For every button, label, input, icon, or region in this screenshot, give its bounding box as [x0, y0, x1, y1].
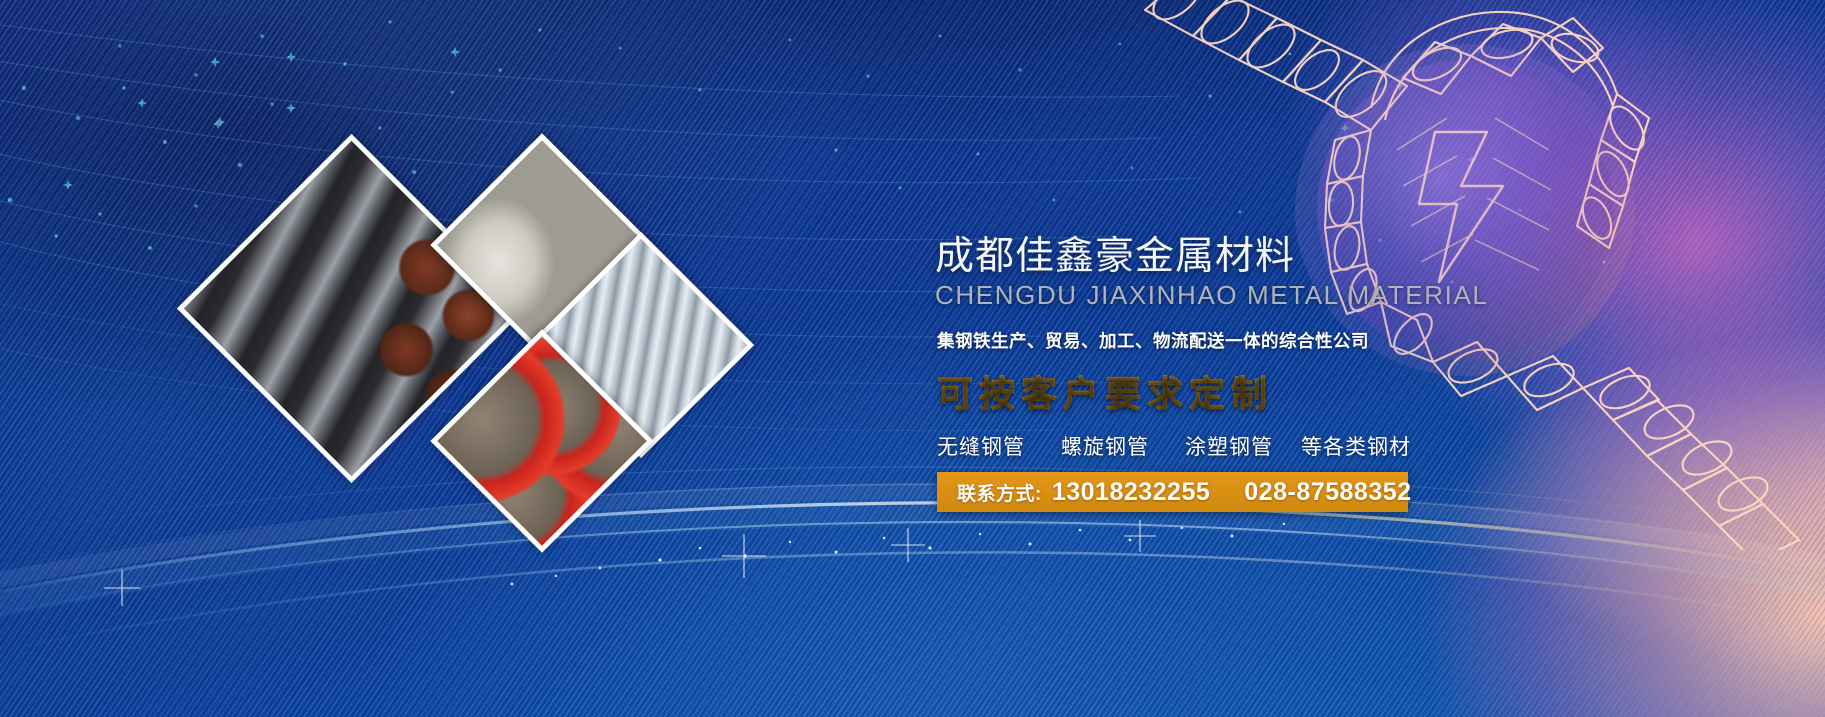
company-name-cn: 成都佳鑫豪金属材料: [935, 236, 1455, 277]
product-item-0: 无缝钢管: [937, 431, 1025, 461]
product-photo-collage: [0, 0, 820, 600]
product-item-3: 等各类钢材: [1301, 431, 1411, 461]
contact-mobile-number[interactable]: 13018232255: [1052, 478, 1210, 507]
company-text-block: 成都佳鑫豪金属材料 CHENGDU JIAXINHAO METAL MATERI…: [935, 236, 1455, 461]
contact-label: 联系方式:: [957, 479, 1042, 506]
company-description: 集钢铁生产、贸易、加工、物流配送一体的综合性公司: [937, 328, 1455, 353]
product-item-1: 螺旋钢管: [1061, 431, 1149, 461]
contact-landline-number[interactable]: 028-87588352: [1244, 478, 1411, 507]
product-list: 无缝钢管 螺旋钢管 涂塑钢管 等各类钢材: [937, 431, 1455, 461]
promo-banner: 成都佳鑫豪金属材料 CHENGDU JIAXINHAO METAL MATERI…: [0, 0, 1825, 717]
custom-order-slogan: 可按客户要求定制: [937, 365, 1455, 417]
contact-info-bar[interactable]: 联系方式: 13018232255 028-87588352: [937, 472, 1408, 512]
product-item-2: 涂塑钢管: [1185, 431, 1273, 461]
company-name-en: CHENGDU JIAXINHAO METAL MATERIAL: [935, 280, 1455, 311]
